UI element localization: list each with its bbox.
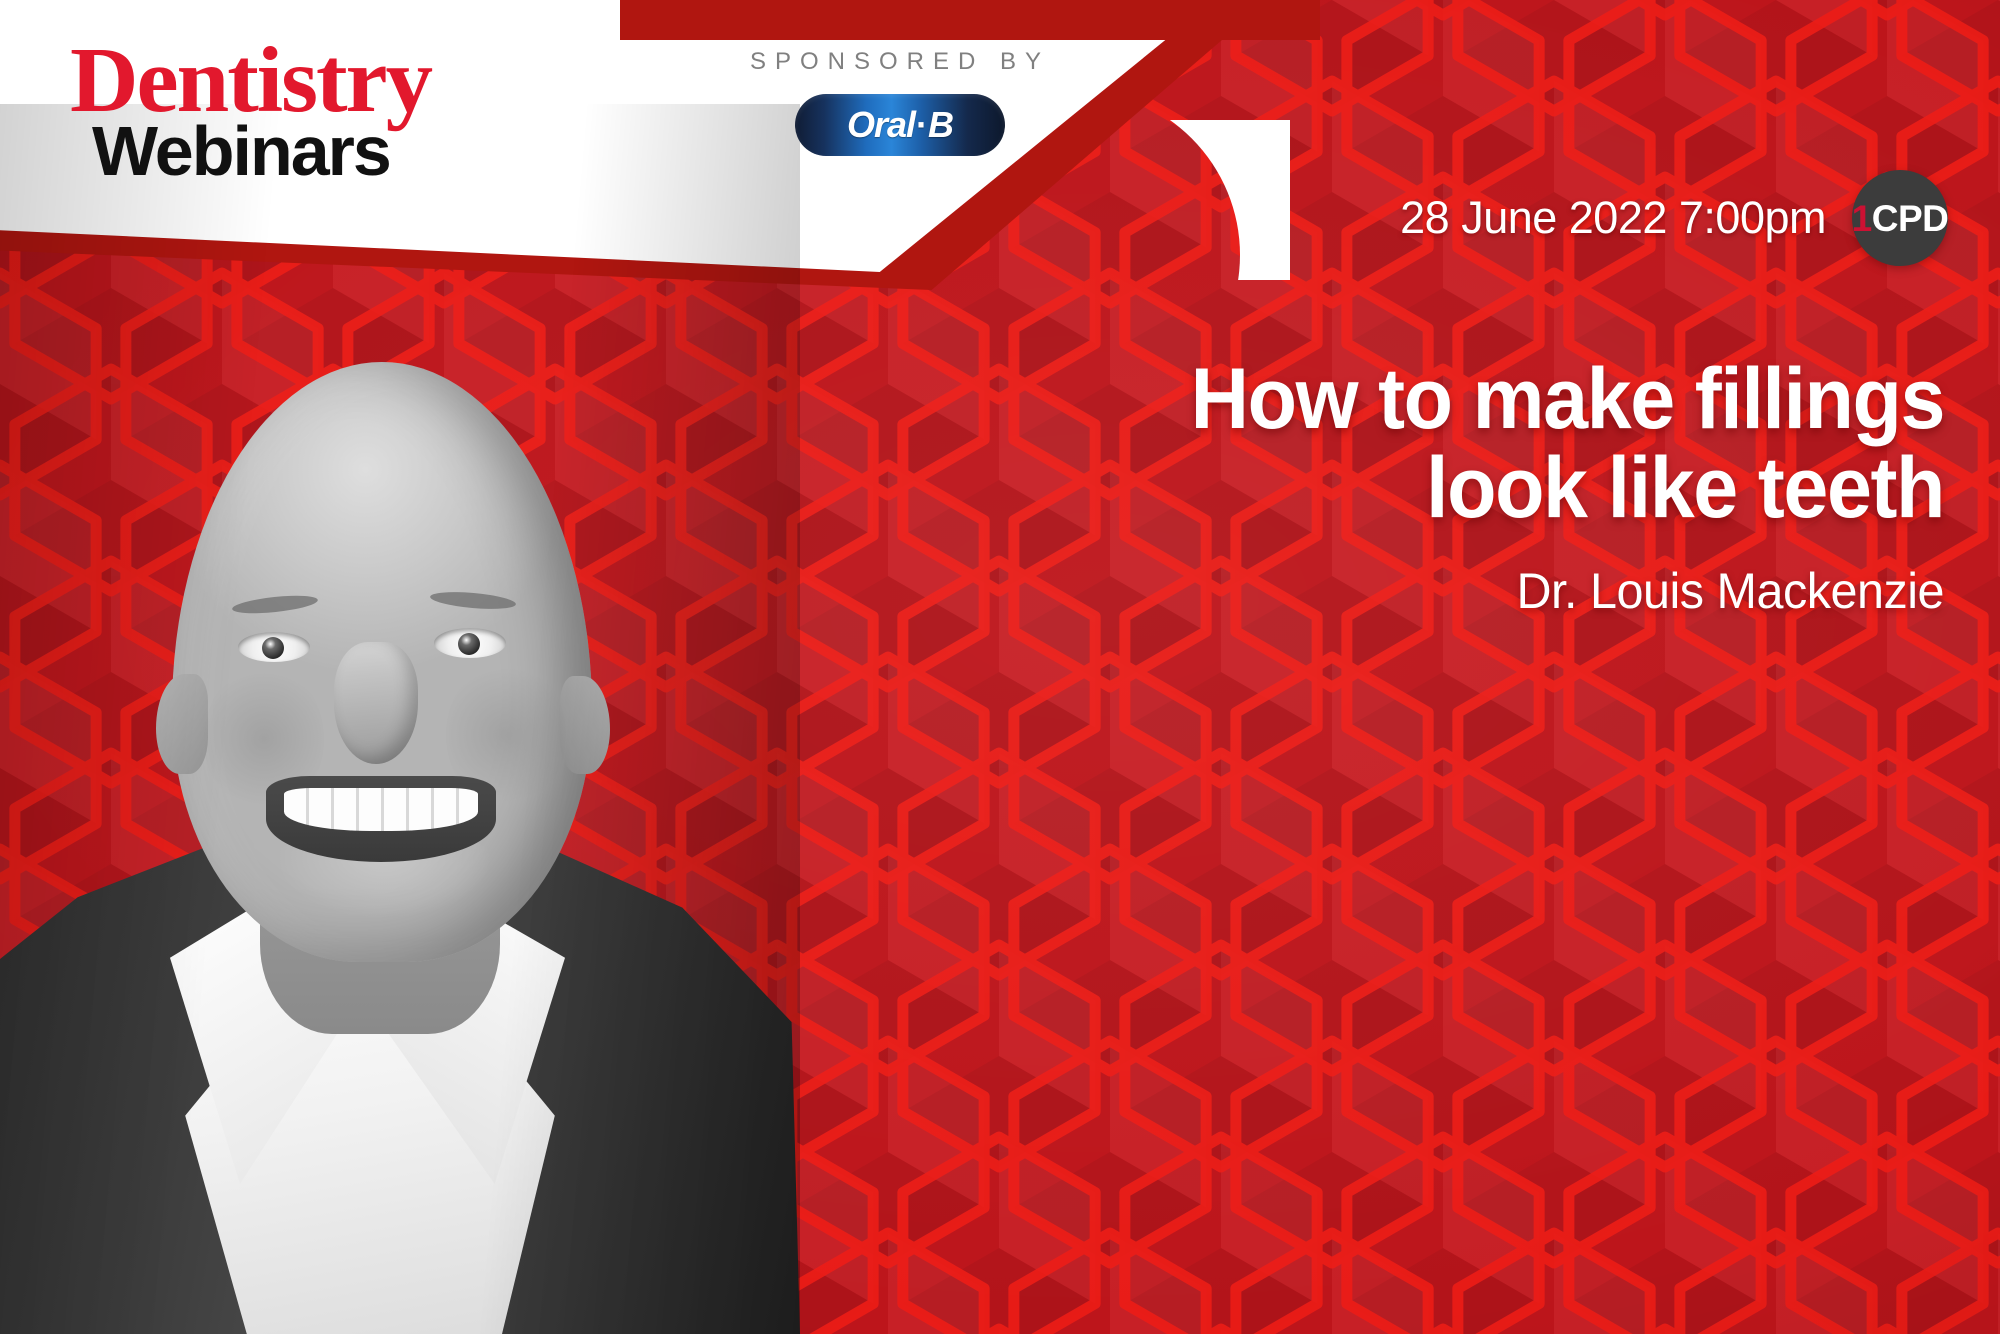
- webinar-datetime: 28 June 2022 7:00pm: [1400, 192, 1826, 244]
- sponsor-block: SPONSORED BY Oral·B: [735, 48, 1065, 156]
- brand-logo[interactable]: Dentistry Webinars: [70, 38, 424, 184]
- oral-b-logo[interactable]: Oral·B: [795, 94, 1005, 156]
- portrait-mouth: [266, 776, 496, 862]
- title-block: How to make fillings look like teeth Dr.…: [964, 355, 1944, 620]
- portrait-pupil-left: [262, 637, 284, 659]
- oral-b-name-a: Oral: [847, 104, 915, 145]
- webinar-promo-poster: Dentistry Webinars SPONSORED BY Oral·B 2…: [0, 0, 2000, 1334]
- oral-b-wordmark: Oral·B: [847, 104, 953, 146]
- brand-logo-dentistry: Dentistry: [70, 38, 431, 124]
- webinar-title: How to make fillings look like teeth: [1023, 355, 1944, 532]
- portrait-pupil-right: [458, 633, 480, 655]
- banner-curve-fill: [1030, 120, 1290, 280]
- oral-b-dot: ·: [916, 104, 927, 145]
- portrait-teeth: [284, 788, 477, 831]
- speaker-portrait: [0, 104, 800, 1334]
- cpd-hours: 1: [1852, 198, 1872, 239]
- cpd-badge-text: 1CPD: [1852, 200, 1949, 237]
- portrait-ear-left: [156, 674, 208, 774]
- cpd-label: CPD: [1872, 198, 1949, 239]
- sponsored-by-label: SPONSORED BY: [735, 48, 1065, 76]
- portrait-ear-right: [560, 676, 610, 774]
- schedule-row: 28 June 2022 7:00pm 1CPD: [1400, 170, 1948, 266]
- portrait-eye-left: [238, 632, 310, 662]
- webinar-speaker: Dr. Louis Mackenzie: [993, 562, 1944, 620]
- portrait-nose: [334, 642, 418, 764]
- oral-b-name-b: B: [928, 104, 953, 145]
- banner-top-notch: [620, 0, 1320, 40]
- webinar-title-line-2: look like teeth: [1023, 444, 1944, 533]
- cpd-badge[interactable]: 1CPD: [1852, 170, 1948, 266]
- portrait-eye-right: [434, 628, 506, 658]
- webinar-title-line-1: How to make fillings: [1023, 355, 1944, 444]
